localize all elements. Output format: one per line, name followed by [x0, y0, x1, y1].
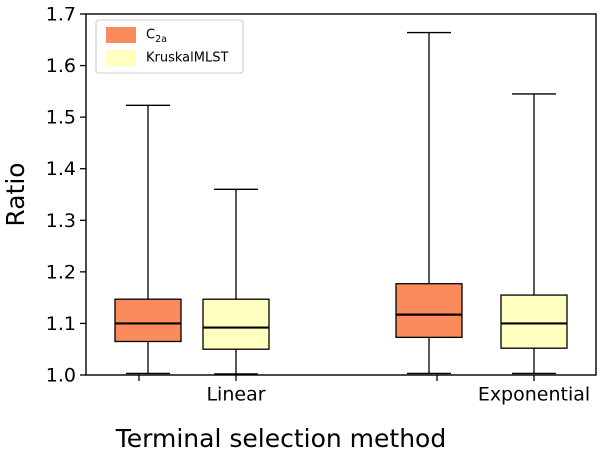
legend-item-kruskalmlst[interactable]: KruskalMLST [106, 50, 228, 66]
box-body [501, 295, 567, 348]
y-tick-label: 1.0 [46, 365, 76, 387]
box-body [115, 299, 181, 341]
legend-swatch [106, 50, 136, 66]
x-axis-label: Terminal selection method [115, 424, 446, 453]
y-tick-label: 1.4 [46, 158, 76, 180]
legend-swatch [106, 27, 136, 43]
box-plot-group [501, 94, 567, 374]
y-tick-label: 1.1 [46, 313, 76, 335]
box-plot-figure: 1.01.11.21.31.41.51.61.7LinearExponentia… [0, 0, 610, 456]
chart-canvas: 1.01.11.21.31.41.51.61.7LinearExponentia… [0, 0, 610, 456]
x-tick-label: Exponential [478, 384, 590, 406]
box-body [396, 284, 462, 338]
y-axis-label: Ratio [1, 162, 30, 226]
y-tick-label: 1.5 [46, 107, 76, 129]
y-tick-label: 1.6 [46, 55, 76, 77]
x-tick-label: Linear [206, 384, 265, 406]
box-plot-group [203, 189, 269, 374]
y-tick-label: 1.3 [46, 210, 76, 232]
y-tick-label: 1.7 [46, 4, 76, 26]
y-tick-label: 1.2 [46, 261, 76, 283]
box-plot-group [115, 105, 181, 373]
box-body [203, 299, 269, 349]
legend-label: KruskalMLST [146, 51, 228, 66]
box-plot-group [396, 33, 462, 374]
